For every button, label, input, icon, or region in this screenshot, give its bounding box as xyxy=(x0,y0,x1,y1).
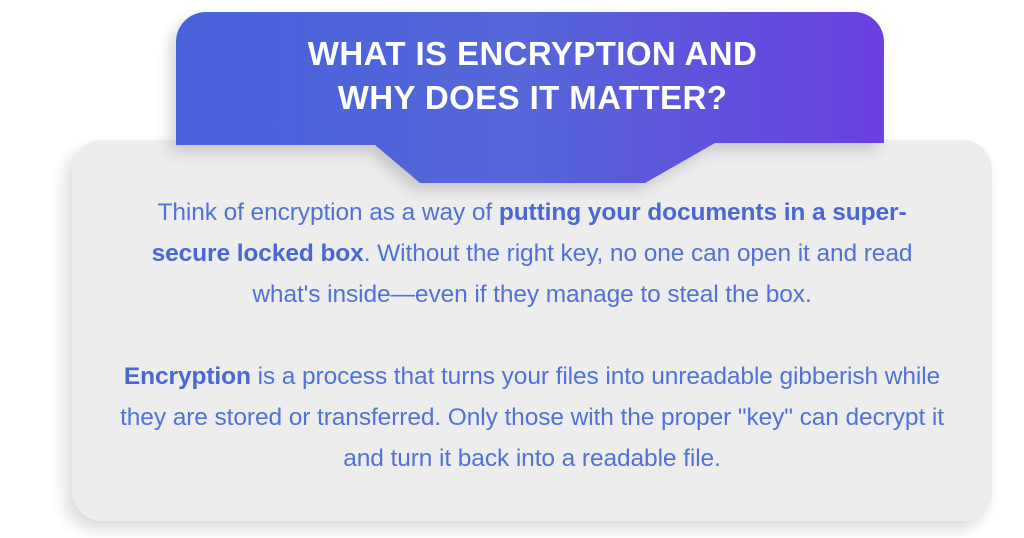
banner-title-line-2: Why Does It Matter? xyxy=(180,76,885,120)
card-text-block: Think of encryption as a way of putting … xyxy=(120,192,944,479)
paragraph-2: Encryption is a process that turns your … xyxy=(120,356,944,479)
banner-title-line-1: What is Encryption and xyxy=(180,32,885,76)
content-card: Think of encryption as a way of putting … xyxy=(72,140,992,521)
paragraph-1-segment-1: Think of encryption as a way of xyxy=(157,199,498,226)
encryption-infographic: Think of encryption as a way of putting … xyxy=(0,0,1024,538)
banner-title: What is Encryption and Why Does It Matte… xyxy=(180,32,885,120)
paragraph-1: Think of encryption as a way of putting … xyxy=(120,192,944,315)
paragraph-2-segment-1-bold: Encryption xyxy=(124,363,251,390)
